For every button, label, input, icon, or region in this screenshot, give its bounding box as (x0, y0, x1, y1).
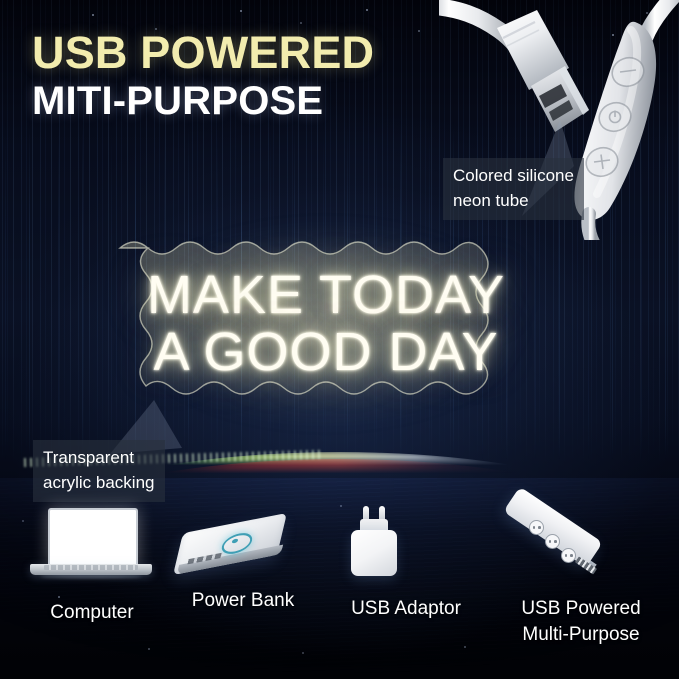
device-usb-adaptor: USB Adaptor (343, 506, 469, 622)
neon-line-2: A GOOD DAY (153, 325, 498, 380)
callout-neon-tube-line-1: Colored silicone (453, 164, 574, 189)
laptop-keyboard-icon (44, 565, 138, 570)
power-strip-icon (495, 506, 667, 580)
compatible-devices-row: Computer Power Bank (0, 500, 679, 679)
wall-adaptor-icon (343, 506, 469, 580)
power-strip-socket-1-icon (529, 520, 544, 535)
headline-line-2: MITI-PURPOSE (32, 80, 374, 123)
power-strip-socket-3-icon (561, 548, 576, 563)
device-power-bank-label: Power Bank (172, 588, 314, 614)
callout-acrylic-line-2: acrylic backing (43, 471, 155, 496)
device-usb-adaptor-label: USB Adaptor (343, 596, 469, 622)
device-power-bank: Power Bank (172, 516, 314, 614)
callout-neon-tube: Colored silicone neon tube (443, 158, 584, 220)
laptop-screen-icon (48, 508, 138, 566)
callout-acrylic-line-1: Transparent (43, 446, 155, 471)
laptop-shadow (40, 575, 142, 578)
headline-block: USB POWERED MITI-PURPOSE (32, 30, 374, 123)
device-usb-powered-label-line-1: USB Powered (495, 596, 667, 622)
device-computer: Computer (30, 508, 154, 626)
device-usb-powered-multipurpose: USB Powered Multi-Purpose (495, 506, 667, 647)
device-computer-label: Computer (30, 600, 154, 626)
callout-acrylic-backing: Transparent acrylic backing (33, 440, 165, 502)
device-usb-powered-label-line-2: Multi-Purpose (495, 622, 667, 648)
laptop-icon (30, 508, 154, 582)
callout-neon-tube-line-2: neon tube (453, 189, 574, 214)
adaptor-body (351, 530, 397, 576)
product-image-canvas: USB POWERED MITI-PURPOSE (0, 0, 679, 679)
power-strip-socket-2-icon (545, 534, 560, 549)
neon-line-1: MAKE TODAY (147, 268, 505, 323)
headline-line-1: USB POWERED (32, 30, 374, 76)
power-bank-icon (172, 516, 314, 578)
